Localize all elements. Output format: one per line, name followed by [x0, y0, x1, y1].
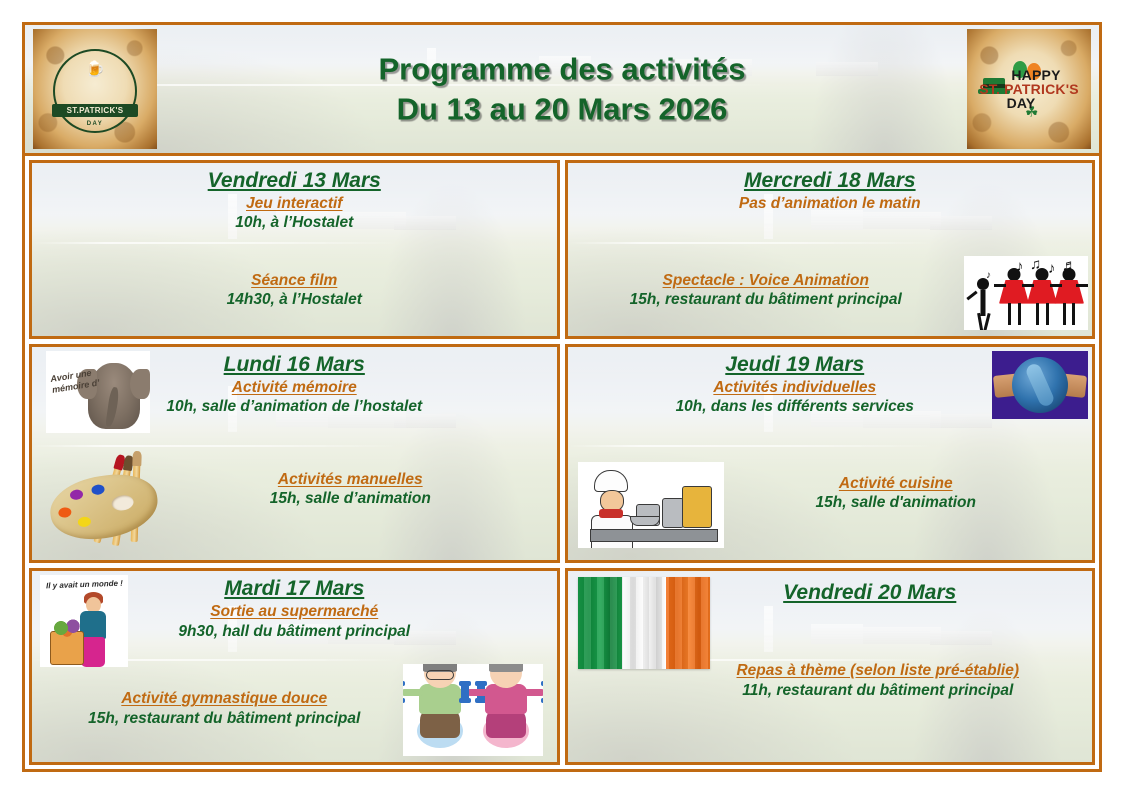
hair-icon: [489, 664, 523, 672]
hands-globe-image: [992, 351, 1088, 419]
happy-label: HAPPY: [1011, 68, 1060, 82]
conductor-figure: [972, 278, 994, 324]
paint-dot-yellow: [77, 516, 91, 528]
chef-hat-icon: [594, 470, 628, 492]
afternoon-activity: Activités manuelles: [144, 470, 557, 489]
afternoon-location: 11h, restaurant du bâtiment principal: [664, 681, 1093, 700]
morning-location: 10h, dans les différents services: [568, 397, 1023, 416]
morning-slot: Jeu interactif 10h, à l’Hostalet: [32, 194, 557, 233]
afternoon-activity: Activité cuisine: [700, 474, 1093, 493]
senior-woman-figure: [477, 664, 535, 748]
st-patricks-band-label: ST.PATRICK'S: [52, 104, 138, 117]
morning-activity: Jeu interactif: [32, 194, 557, 213]
dumbbell-icon: [461, 682, 469, 702]
beer-roundel-icon: 🍺 ST.PATRICK'S DAY: [53, 49, 137, 133]
groceries-icon: [52, 619, 82, 637]
singers-clipart: ♪ ♫ ♪ ♬ ♪: [964, 256, 1088, 330]
day-cell-lundi-16-mars: Lundi 16 Mars Activité mémoire 10h, sall…: [29, 344, 560, 564]
seniors-gym-clipart: [403, 664, 543, 756]
kitchen-counter-icon: [590, 529, 718, 542]
day-title: Vendredi 13 Mars: [32, 169, 557, 193]
afternoon-location: 14h30, à l’Hostalet: [32, 290, 557, 309]
flag-band-green: [578, 577, 622, 669]
day-cell-mardi-17-mars: Mardi 17 Mars Sortie au supermarché 9h30…: [29, 568, 560, 765]
senior-man-figure: [411, 664, 469, 748]
shirt-icon: [419, 684, 461, 714]
utensil-holder-icon: [682, 486, 712, 528]
flag-band-orange: [666, 577, 710, 669]
flag-band-white: [622, 577, 666, 669]
afternoon-activity: Repas à thème (selon liste pré-établie): [664, 661, 1093, 680]
arm-icon: [467, 689, 489, 696]
day-label: DAY: [87, 121, 104, 127]
paint-dot-purple: [69, 489, 83, 501]
morning-slot: Pas d’animation le matin: [568, 194, 1093, 213]
chef-cooking-clipart: [578, 462, 724, 548]
afternoon-location: 15h, salle d’animation: [144, 489, 557, 508]
st-patricks-beer-logo: 🍺 ST.PATRICK'S DAY: [33, 29, 157, 149]
shopping-lady-clipart: Il y avait un monde !: [40, 575, 128, 667]
days-grid: Vendredi 13 Mars Jeu interactif 10h, à l…: [25, 156, 1099, 769]
morning-activity: Activités individuelles: [568, 378, 1023, 397]
day-cell-vendredi-13-mars: Vendredi 13 Mars Jeu interactif 10h, à l…: [29, 160, 560, 339]
elephant-memory-clipart: Avoir une mémoire d’: [46, 351, 150, 433]
activity-programme-poster: 🍺 ST.PATRICK'S DAY Programme des activit…: [22, 22, 1102, 772]
arm-icon: [403, 689, 423, 696]
pan-icon: [630, 516, 660, 526]
paint-dot-blue: [91, 484, 105, 496]
glasses-icon: [426, 670, 454, 680]
afternoon-location: 15h, restaurant du bâtiment principal: [32, 709, 417, 728]
st-patricks-label: ST. PATRICK'S: [979, 82, 1079, 96]
beer-mugs-icon: 🍺: [85, 59, 105, 79]
day-cell-jeudi-19-mars: Jeudi 19 Mars Activités individuelles 10…: [565, 344, 1096, 564]
page-title: Programme des activités Du 13 au 20 Mars…: [25, 49, 1099, 128]
day-label: DAY: [1007, 96, 1036, 110]
arm-icon: [523, 689, 543, 696]
singer-figure: [1054, 268, 1084, 326]
afternoon-location: 15h, restaurant du bâtiment principal: [568, 290, 965, 309]
shopping-caption: Il y avait un monde !: [46, 579, 123, 591]
afternoon-activity: Séance film: [32, 271, 557, 290]
paint-dot-orange: [58, 507, 72, 519]
day-title: Mercredi 18 Mars: [568, 169, 1093, 193]
morning-activity: Pas d’animation le matin: [568, 194, 1093, 213]
irish-flag: [578, 577, 710, 669]
shirt-icon: [485, 684, 527, 714]
morning-location: 10h, à l’Hostalet: [32, 213, 557, 232]
palette-thumb-hole: [111, 494, 135, 512]
lady-legs-icon: [81, 637, 105, 667]
afternoon-slot: Séance film 14h30, à l’Hostalet: [32, 271, 557, 310]
happy-st-patricks-day-logo: ☘ HAPPY ST. PATRICK'S DAY: [967, 29, 1091, 149]
chef-scarf-icon: [599, 509, 623, 518]
afternoon-location: 15h, salle d'animation: [700, 493, 1093, 512]
pot-icon: [662, 498, 684, 528]
title-line-2: Du 13 au 20 Mars 2026: [25, 89, 1099, 129]
day-cell-vendredi-20-mars: Vendredi 20 Mars Repas à thème (selon li…: [565, 568, 1096, 765]
day-cell-mercredi-18-mars: Mercredi 18 Mars Pas d’animation le mati…: [565, 160, 1096, 339]
poster-header: 🍺 ST.PATRICK'S DAY Programme des activit…: [25, 25, 1099, 156]
afternoon-activity: Spectacle : Voice Animation: [568, 271, 965, 290]
title-line-1: Programme des activités: [25, 49, 1099, 89]
afternoon-activity: Activité gymnastique douce: [32, 689, 417, 708]
